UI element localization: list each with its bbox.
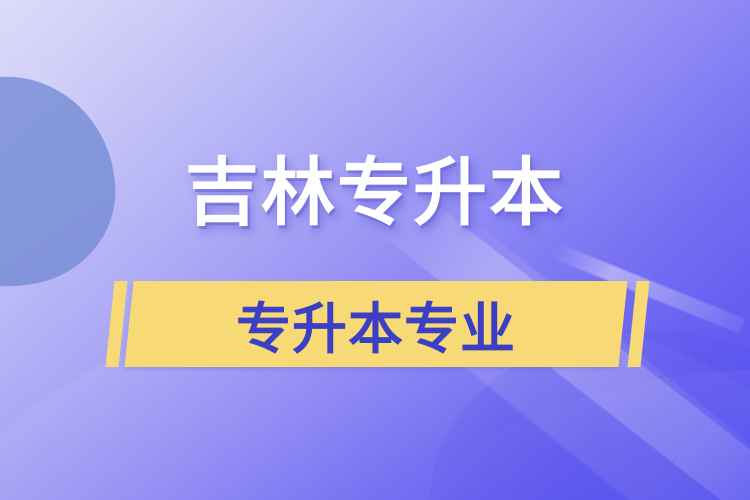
subtitle-band-group: 专升本专业: [0, 281, 750, 371]
promo-banner: 吉林专升本 专升本专业: [0, 0, 750, 500]
banner-headline: 吉林专升本: [0, 150, 750, 236]
bottom-wave-secondary-shape: [330, 370, 750, 500]
band-stripe-right: [627, 281, 649, 367]
band-subtitle-label: 专升本专业: [129, 281, 623, 367]
band-stripe-left: [105, 281, 127, 367]
